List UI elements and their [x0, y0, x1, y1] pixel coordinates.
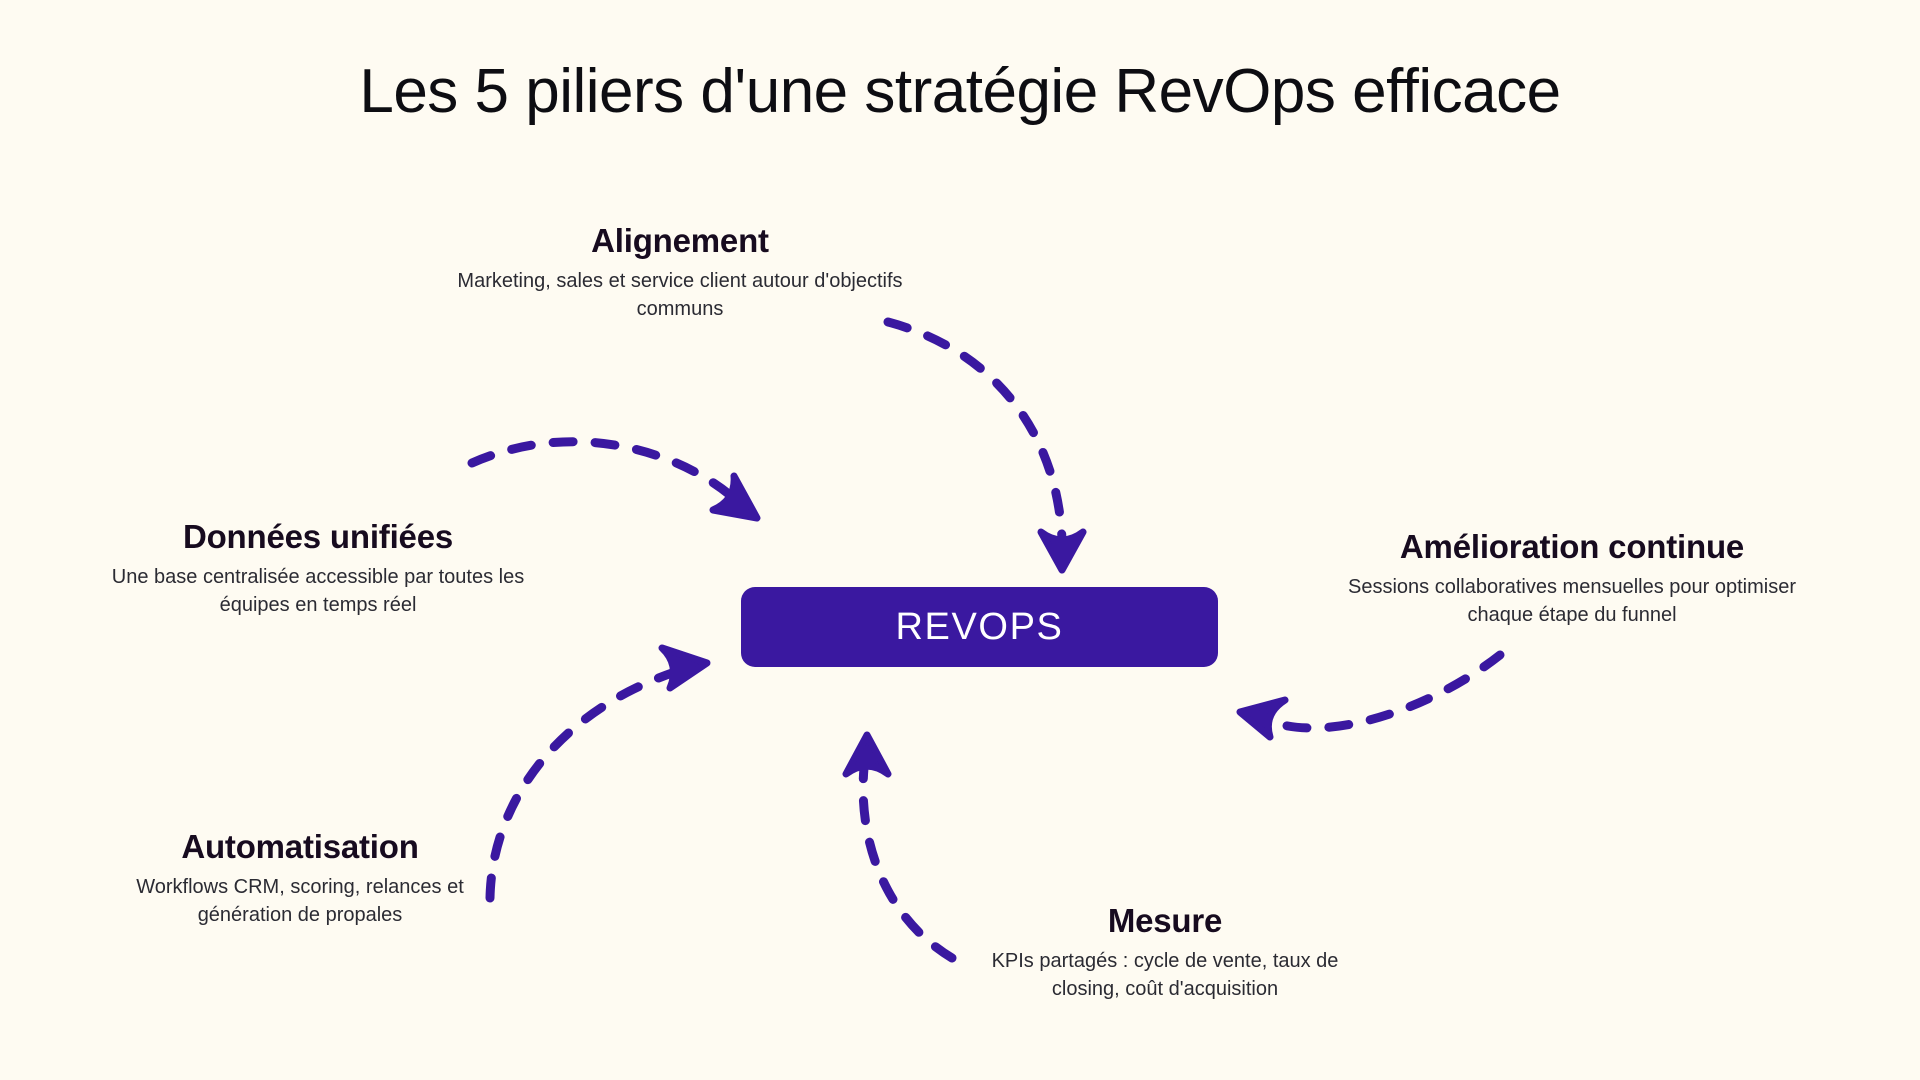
pillar-amelioration-continue-title: Amélioration continue: [1327, 528, 1817, 567]
pillar-donnees-unifiees-title: Données unifiées: [108, 518, 528, 557]
pillar-mesure-description: KPIs partagés : cycle de vente, taux de …: [955, 948, 1375, 1003]
pillar-alignement-title: Alignement: [455, 222, 905, 261]
pillar-automatisation-description: Workflows CRM, scoring, relances et géné…: [90, 874, 510, 929]
arrow-amelioration-to-center: [1240, 655, 1500, 737]
pillar-alignement: Alignement Marketing, sales et service c…: [455, 222, 905, 323]
pillar-automatisation-title: Automatisation: [90, 828, 510, 867]
arrow-donnees-to-center: [472, 442, 757, 518]
pillar-amelioration-continue-description: Sessions collaboratives mensuelles pour …: [1327, 574, 1817, 629]
pillar-donnees-unifiees-description: Une base centralisée accessible par tout…: [108, 564, 528, 619]
diagram-canvas: Les 5 piliers d'une stratégie RevOps eff…: [0, 0, 1920, 1080]
pillar-mesure-title: Mesure: [955, 902, 1375, 941]
pillar-automatisation: Automatisation Workflows CRM, scoring, r…: [90, 828, 510, 929]
pillar-alignement-description: Marketing, sales et service client autou…: [455, 268, 905, 323]
arrow-automatisation-to-center: [490, 648, 707, 898]
arrow-alignement-to-center: [888, 322, 1083, 570]
center-node-revops: REVOPS: [741, 587, 1218, 667]
pillar-donnees-unifiees: Données unifiées Une base centralisée ac…: [108, 518, 528, 619]
page-title: Les 5 piliers d'une stratégie RevOps eff…: [0, 58, 1920, 126]
arrow-mesure-to-center: [846, 735, 952, 958]
pillar-mesure: Mesure KPIs partagés : cycle de vente, t…: [955, 902, 1375, 1003]
center-node-label: REVOPS: [896, 608, 1064, 646]
pillar-amelioration-continue: Amélioration continue Sessions collabora…: [1327, 528, 1817, 629]
